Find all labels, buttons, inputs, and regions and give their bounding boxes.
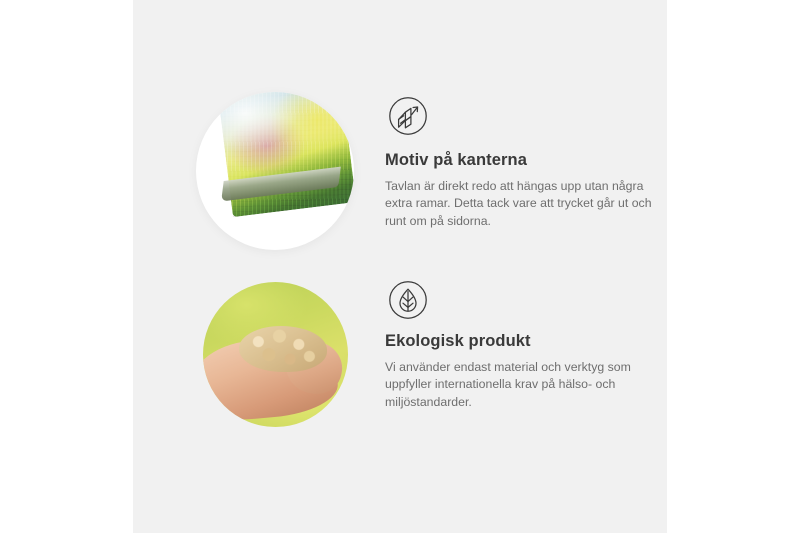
product-feature-infographic: Motiv på kanterna Tavlan är direkt redo … (0, 0, 800, 533)
feature-image-hands-holding-wood-chips (203, 282, 348, 427)
feature-text-block: Motiv på kanterna Tavlan är direkt redo … (385, 151, 657, 230)
leaf-icon (385, 277, 431, 323)
feature-title: Motiv på kanterna (385, 151, 657, 171)
feature-description: Tavlan är direkt redo att hängas upp uta… (385, 178, 657, 230)
feature-block-ekologisk-produkt: Ekologisk produkt Vi använder endast mat… (133, 272, 667, 432)
feature-title: Ekologisk produkt (385, 332, 657, 352)
feature-text-block: Ekologisk produkt Vi använder endast mat… (385, 332, 657, 411)
content-panel: Motiv på kanterna Tavlan är direkt redo … (133, 0, 667, 533)
feature-block-motiv-pa-kanterna: Motiv på kanterna Tavlan är direkt redo … (133, 85, 667, 260)
feature-description: Vi använder endast material och verktyg … (385, 359, 657, 411)
feature-image-canvas-print-corner (196, 92, 354, 250)
wood-chips-shape (239, 326, 327, 372)
canvas-wrap-edge-icon (385, 93, 431, 139)
